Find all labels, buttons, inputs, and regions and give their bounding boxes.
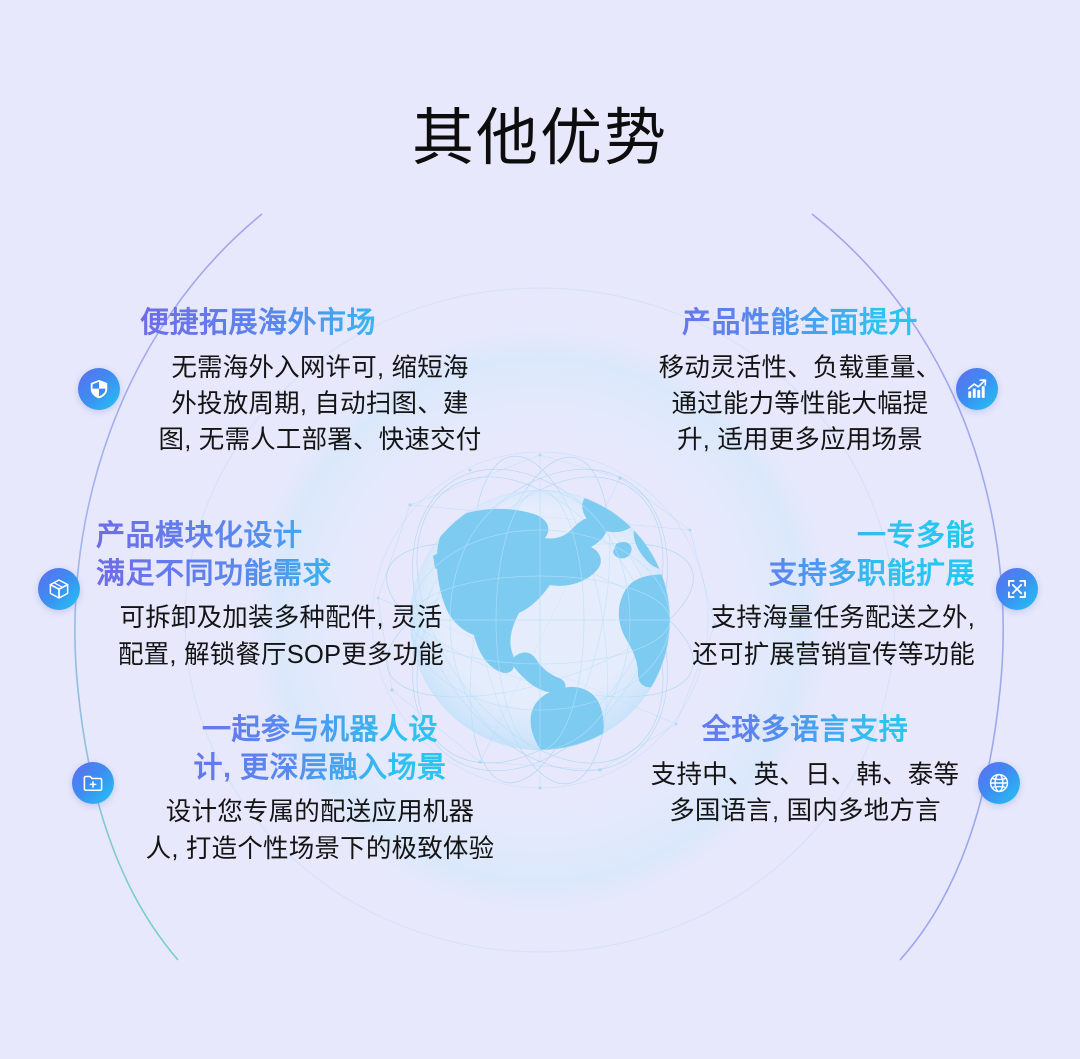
cube-icon (48, 578, 70, 600)
growth-chart-icon-badge (956, 368, 998, 410)
feature-title: 产品模块化设计 满足不同功能需求 (96, 518, 466, 593)
cube-icon-badge (38, 568, 80, 610)
feature-title: 产品性能全面提升 (620, 305, 980, 343)
feature-title: 一专多能 支持多职能扩展 (660, 518, 975, 593)
globe-icon-badge (978, 762, 1020, 804)
feature-body: 可拆卸及加装多种配件, 灵活 配置, 解锁餐厅SOP更多功能 (96, 600, 466, 672)
page-title: 其他优势 (0, 108, 1080, 170)
shield-icon-badge (78, 368, 120, 410)
feature-modular: 产品模块化设计 满足不同功能需求 可拆卸及加装多种配件, 灵活 配置, 解锁餐厅… (96, 518, 466, 673)
folder-plus-icon (82, 772, 104, 794)
folder-plus-icon-badge (72, 762, 114, 804)
feature-codesign: 一起参与机器人设 计, 更深层融入场景 设计您专属的配送应用机器 人, 打造个性… (130, 712, 510, 867)
globe-icon (988, 772, 1010, 794)
feature-performance: 产品性能全面提升 移动灵活性、负载重量、 通过能力等性能大幅提 升, 适用更多应… (620, 305, 980, 458)
feature-multirole: 一专多能 支持多职能扩展 支持海量任务配送之外, 还可扩展营销宣传等功能 (660, 518, 975, 673)
feature-body: 移动灵活性、负载重量、 通过能力等性能大幅提 升, 适用更多应用场景 (620, 350, 980, 459)
advantages-section: 其他优势 便捷拓展海外市场 无需海外入网许可, 缩短海 外投放周期, 自动扫图、… (0, 0, 1080, 1059)
feature-overseas: 便捷拓展海外市场 无需海外入网许可, 缩短海 外投放周期, 自动扫图、建 图, … (140, 305, 500, 458)
growth-chart-icon (966, 378, 988, 400)
feature-title: 一起参与机器人设 计, 更深层融入场景 (130, 712, 510, 787)
feature-body: 无需海外入网许可, 缩短海 外投放周期, 自动扫图、建 图, 无需人工部署、快速… (140, 350, 500, 459)
feature-body: 支持中、英、日、韩、泰等 多国语言, 国内多地方言 (640, 757, 970, 829)
feature-body: 设计您专属的配送应用机器 人, 打造个性场景下的极致体验 (130, 794, 510, 866)
expand-arrows-icon (1006, 578, 1028, 600)
shield-icon (88, 378, 110, 400)
feature-body: 支持海量任务配送之外, 还可扩展营销宣传等功能 (660, 600, 975, 672)
expand-arrows-icon-badge (996, 568, 1038, 610)
feature-title: 便捷拓展海外市场 (140, 305, 500, 343)
feature-title: 全球多语言支持 (640, 712, 970, 750)
feature-language: 全球多语言支持 支持中、英、日、韩、泰等 多国语言, 国内多地方言 (640, 712, 970, 829)
